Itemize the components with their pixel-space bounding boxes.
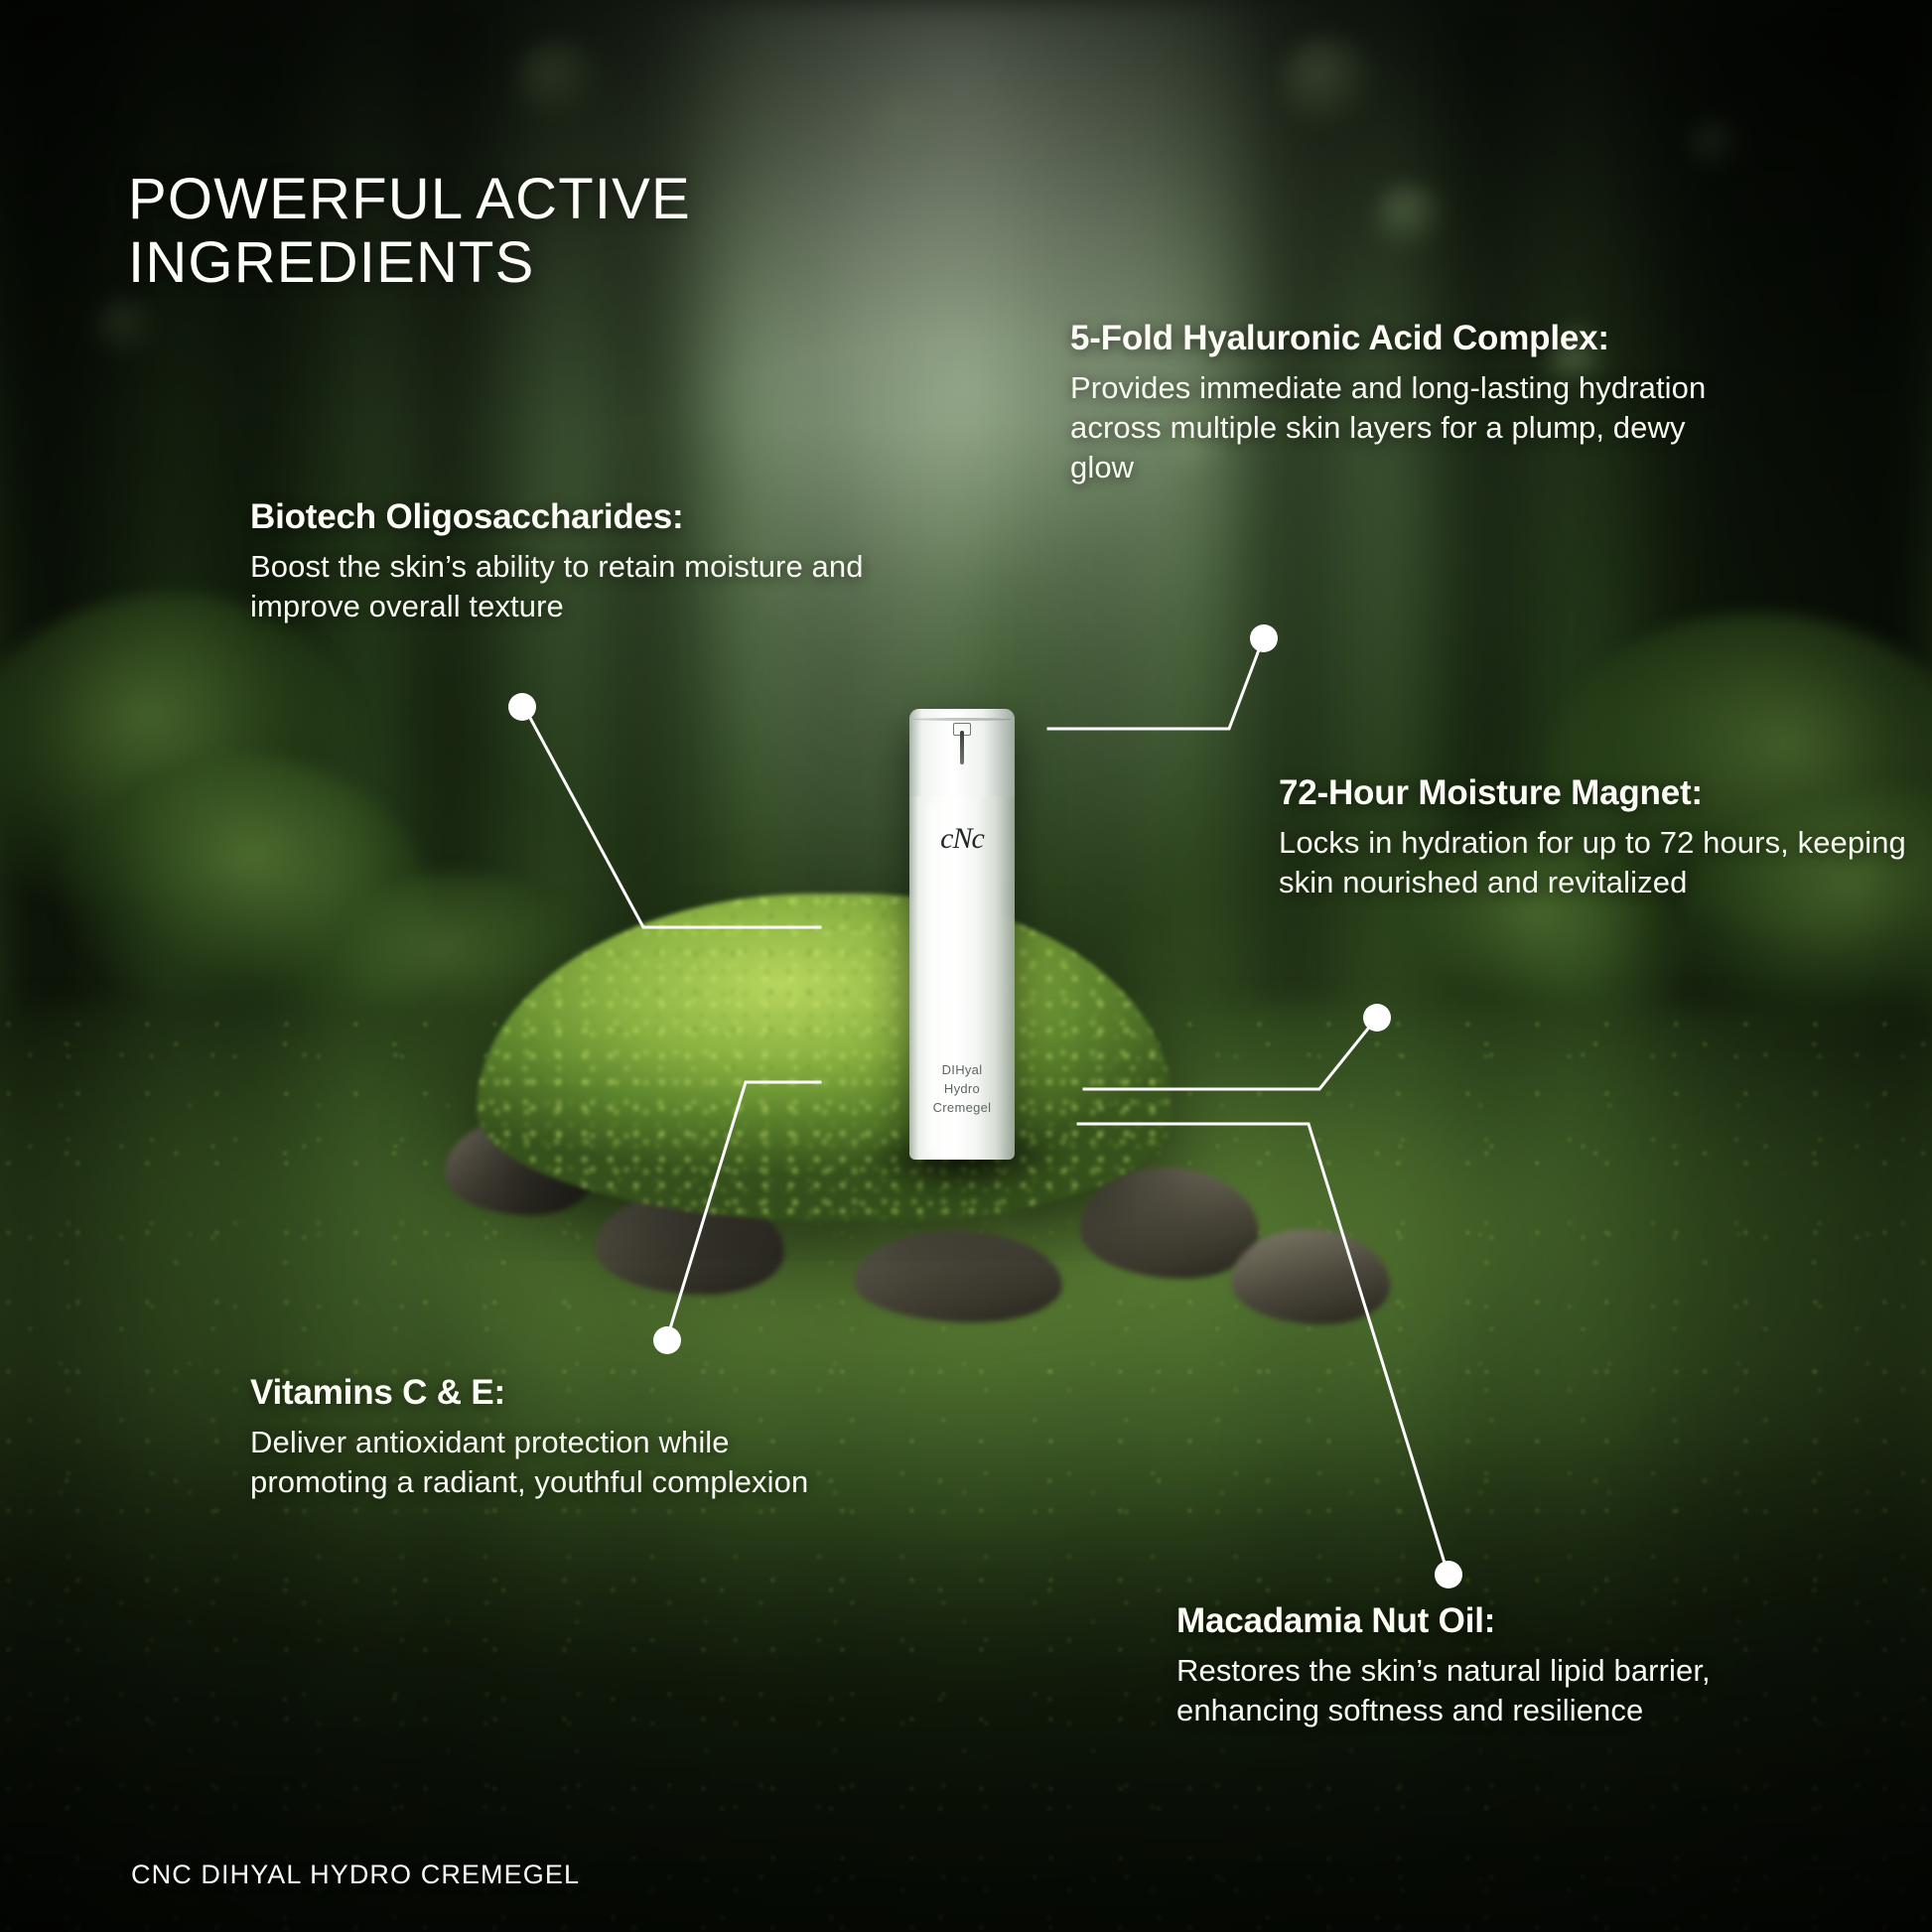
callout-moisture: 72-Hour Moisture Magnet: Locks in hydrat… (1279, 772, 1914, 902)
callout-title-hyaluronic: 5-Fold Hyaluronic Acid Complex: (1070, 318, 1755, 358)
infographic-canvas: cNc DIHyal Hydro Cremegel (0, 0, 1932, 1932)
callout-body-biotech: Boost the skin’s ability to retain moist… (250, 547, 866, 625)
page-title: POWERFUL ACTIVE INGREDIENTS (128, 168, 883, 296)
callout-title-vitamins: Vitamins C & E: (250, 1372, 846, 1413)
footer-product-label: CNC DIHYAL HYDRO CREMEGEL (131, 1860, 580, 1890)
callout-hyaluronic: 5-Fold Hyaluronic Acid Complex: Provides… (1070, 318, 1755, 486)
callout-biotech: Biotech Oligosaccharides: Boost the skin… (250, 496, 866, 626)
callout-body-macadamia: Restores the skin’s natural lipid barrie… (1176, 1651, 1812, 1729)
callout-body-moisture: Locks in hydration for up to 72 hours, k… (1279, 823, 1914, 901)
callout-body-hyaluronic: Provides immediate and long-lasting hydr… (1070, 368, 1755, 486)
callout-title-moisture: 72-Hour Moisture Magnet: (1279, 772, 1914, 813)
callout-body-vitamins: Deliver antioxidant protection while pro… (250, 1423, 846, 1501)
callout-title-macadamia: Macadamia Nut Oil: (1176, 1600, 1812, 1641)
callout-macadamia: Macadamia Nut Oil: Restores the skin’s n… (1176, 1600, 1812, 1730)
callout-title-biotech: Biotech Oligosaccharides: (250, 496, 866, 537)
callout-vitamins: Vitamins C & E: Deliver antioxidant prot… (250, 1372, 846, 1502)
